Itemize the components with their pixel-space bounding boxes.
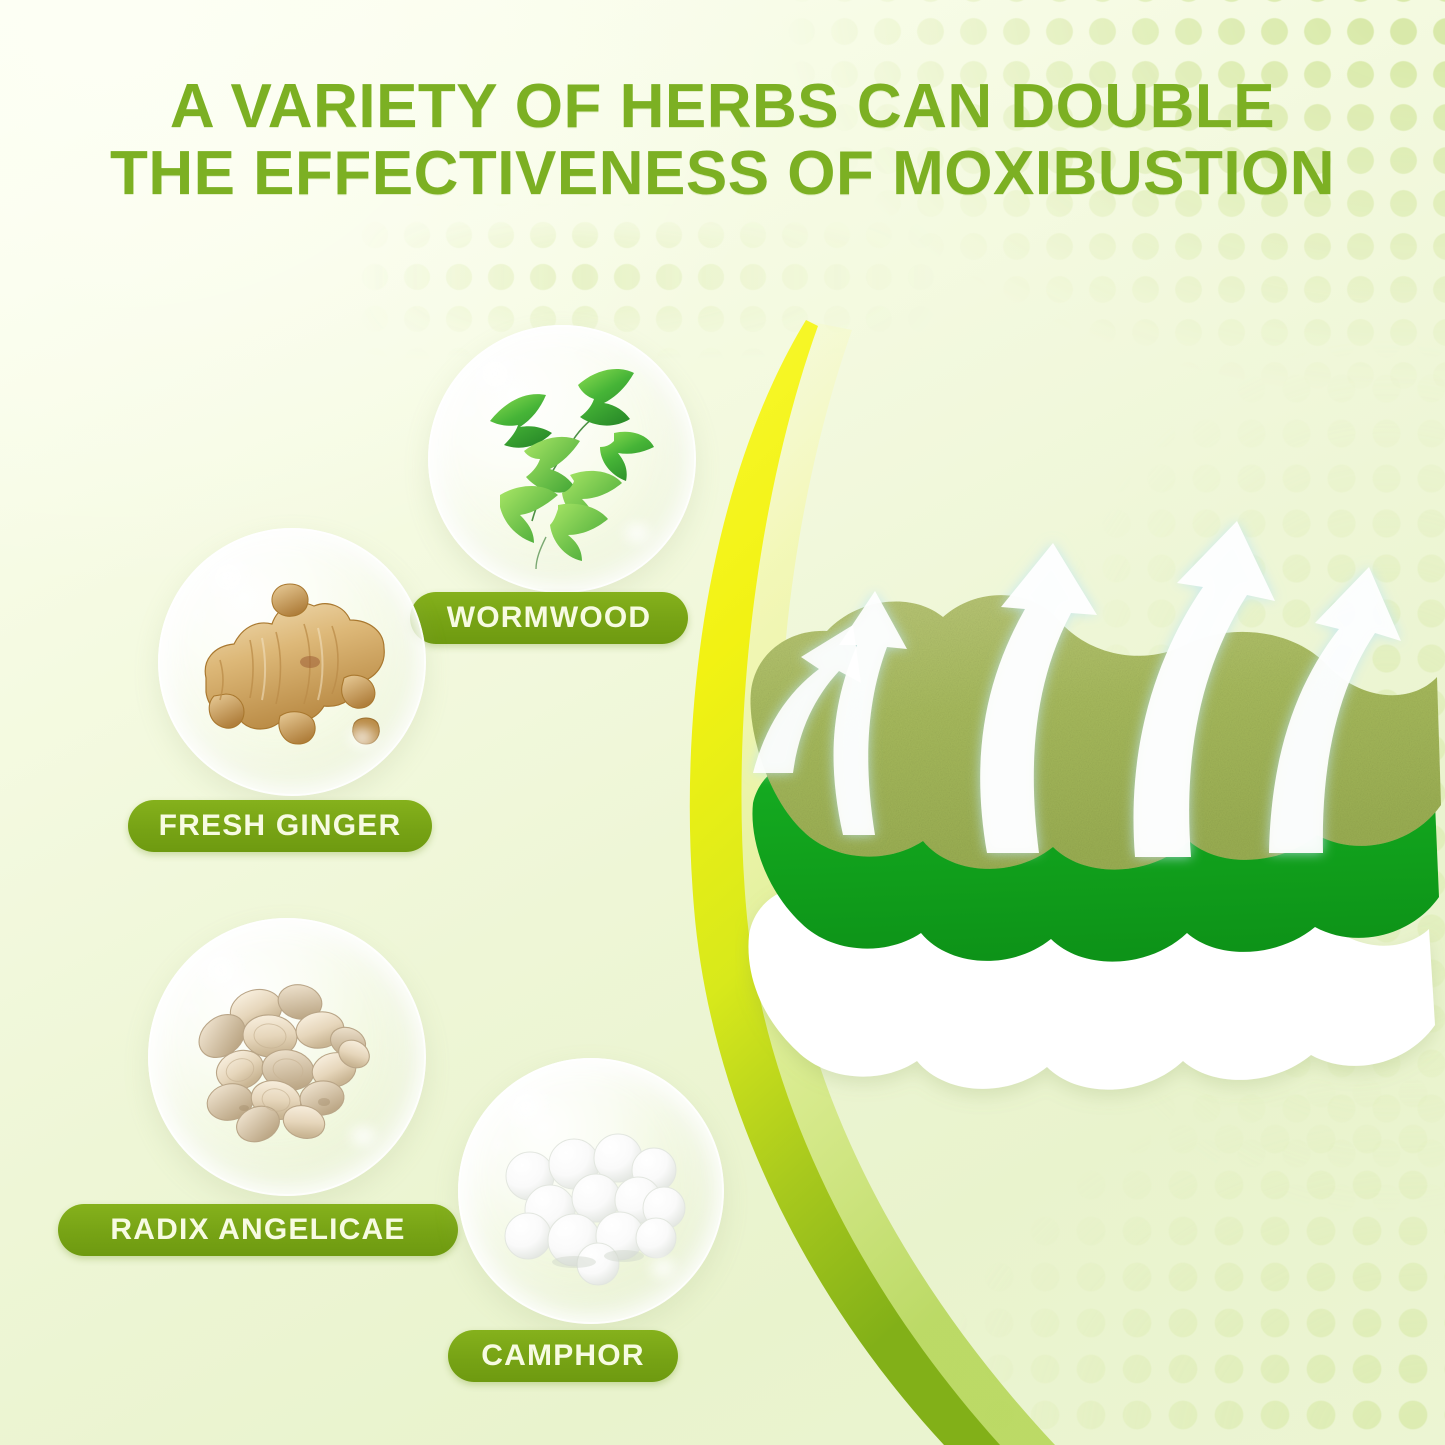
bubble-highlight-lower (340, 1124, 386, 1148)
ingredient-label-text: CAMPHOR (481, 1339, 644, 1373)
bubble-highlight-secondary (458, 403, 480, 417)
ingredient-label-camphor[interactable]: CAMPHOR (448, 1330, 678, 1382)
camphor-balls-icon (458, 1058, 724, 1324)
ingredient-bubble-fresh-ginger[interactable] (158, 528, 426, 796)
moxibustion-patch-diagram (735, 505, 1445, 1115)
ingredient-label-text: RADIX ANGELICAE (110, 1213, 405, 1247)
bubble-highlight-secondary (180, 1002, 202, 1016)
bubble-highlight-lower (338, 726, 386, 750)
ingredient-label-text: FRESH GINGER (159, 809, 402, 843)
ingredient-bubble-camphor[interactable] (458, 1058, 724, 1324)
ingredient-label-fresh-ginger[interactable]: FRESH GINGER (128, 800, 432, 852)
bubble-highlight-secondary (188, 608, 210, 622)
title-line-2: THE EFFECTIVENESS OF MOXIBUSTION (40, 141, 1405, 208)
poster-title: A VARIETY OF HERBS CAN DOUBLE THE EFFECT… (0, 74, 1445, 208)
title-line-1: A VARIETY OF HERBS CAN DOUBLE (170, 72, 1275, 141)
ingredient-label-text: WORMWOOD (447, 601, 652, 635)
ingredient-label-radix-angelicae[interactable]: RADIX ANGELICAE (58, 1204, 458, 1256)
bubble-highlight-secondary (488, 1138, 510, 1152)
ingredient-label-wormwood[interactable]: WORMWOOD (410, 592, 688, 644)
poster-canvas: A VARIETY OF HERBS CAN DOUBLE THE EFFECT… (0, 0, 1445, 1445)
bubble-highlight-lower (614, 521, 660, 545)
ginger-root-icon (158, 528, 426, 796)
ingredient-bubble-wormwood[interactable] (428, 325, 696, 593)
bubble-highlight-lower (640, 1256, 686, 1280)
ingredient-bubble-radix-angelicae[interactable] (148, 918, 426, 1196)
root-slices-icon (148, 918, 426, 1196)
ginger-main-body (205, 603, 384, 729)
wormwood-sprig-icon (428, 325, 696, 593)
